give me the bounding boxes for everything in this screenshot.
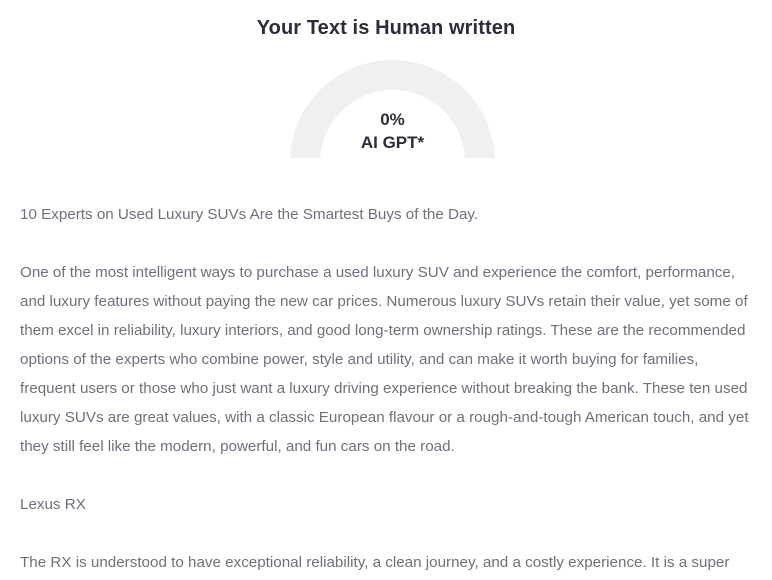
paragraph-spacer <box>20 461 756 490</box>
result-title: Your Text is Human written <box>0 14 772 42</box>
gauge-model-label: AI GPT* <box>290 131 495 154</box>
result-page: Your Text is Human written 0% AI GPT* 10… <box>0 0 772 580</box>
article-headline: 10 Experts on Used Luxury SUVs Are the S… <box>20 200 756 229</box>
paragraph-spacer <box>20 229 756 258</box>
paragraph-spacer <box>20 519 756 548</box>
article-section-heading: Lexus RX <box>20 490 756 519</box>
gauge-label-group: 0% AI GPT* <box>290 108 495 154</box>
article-content: 10 Experts on Used Luxury SUVs Are the S… <box>20 200 756 577</box>
article-intro-paragraph: One of the most intelligent ways to purc… <box>20 258 756 461</box>
gauge-percent-value: 0% <box>290 108 495 131</box>
article-section-paragraph: The RX is understood to have exceptional… <box>20 548 756 577</box>
